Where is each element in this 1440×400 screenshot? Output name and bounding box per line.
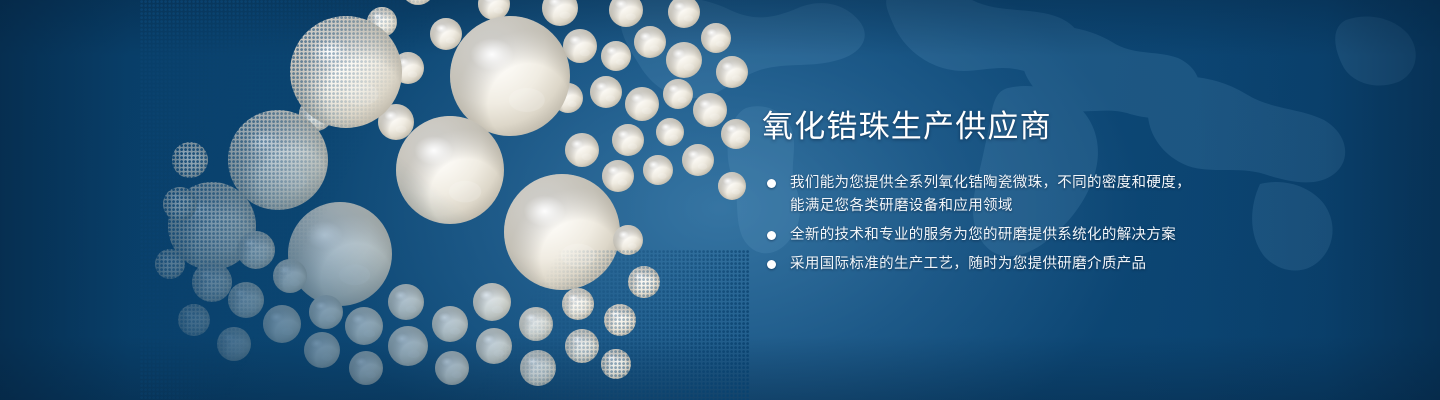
bullet-dot-icon — [767, 260, 776, 269]
list-item-line: 我们能为您提供全系列氧化锆陶瓷微珠，不同的密度和硬度， — [790, 172, 1382, 195]
list-item: 全新的技术和专业的服务为您的研磨提供系统化的解决方案 — [762, 224, 1382, 247]
feature-list: 我们能为您提供全系列氧化锆陶瓷微珠，不同的密度和硬度， 能满足您各类研磨设备和应… — [762, 172, 1382, 276]
list-item: 我们能为您提供全系列氧化锆陶瓷微珠，不同的密度和硬度， 能满足您各类研磨设备和应… — [762, 172, 1382, 218]
list-item-line: 能满足您各类研磨设备和应用领域 — [790, 195, 1382, 218]
bullet-dot-icon — [767, 179, 776, 188]
hero-banner: 氧化锆珠生产供应商 我们能为您提供全系列氧化锆陶瓷微珠，不同的密度和硬度， 能满… — [0, 0, 1440, 400]
list-item-line: 全新的技术和专业的服务为您的研磨提供系统化的解决方案 — [790, 224, 1382, 247]
bullet-dot-icon — [767, 231, 776, 240]
list-item-line: 采用国际标准的生产工艺，随时为您提供研磨介质产品 — [790, 253, 1382, 276]
banner-copy: 氧化锆珠生产供应商 我们能为您提供全系列氧化锆陶瓷微珠，不同的密度和硬度， 能满… — [762, 106, 1382, 276]
page-title: 氧化锆珠生产供应商 — [762, 106, 1382, 148]
zirconia-beads-photo — [150, 0, 750, 400]
list-item: 采用国际标准的生产工艺，随时为您提供研磨介质产品 — [762, 253, 1382, 276]
